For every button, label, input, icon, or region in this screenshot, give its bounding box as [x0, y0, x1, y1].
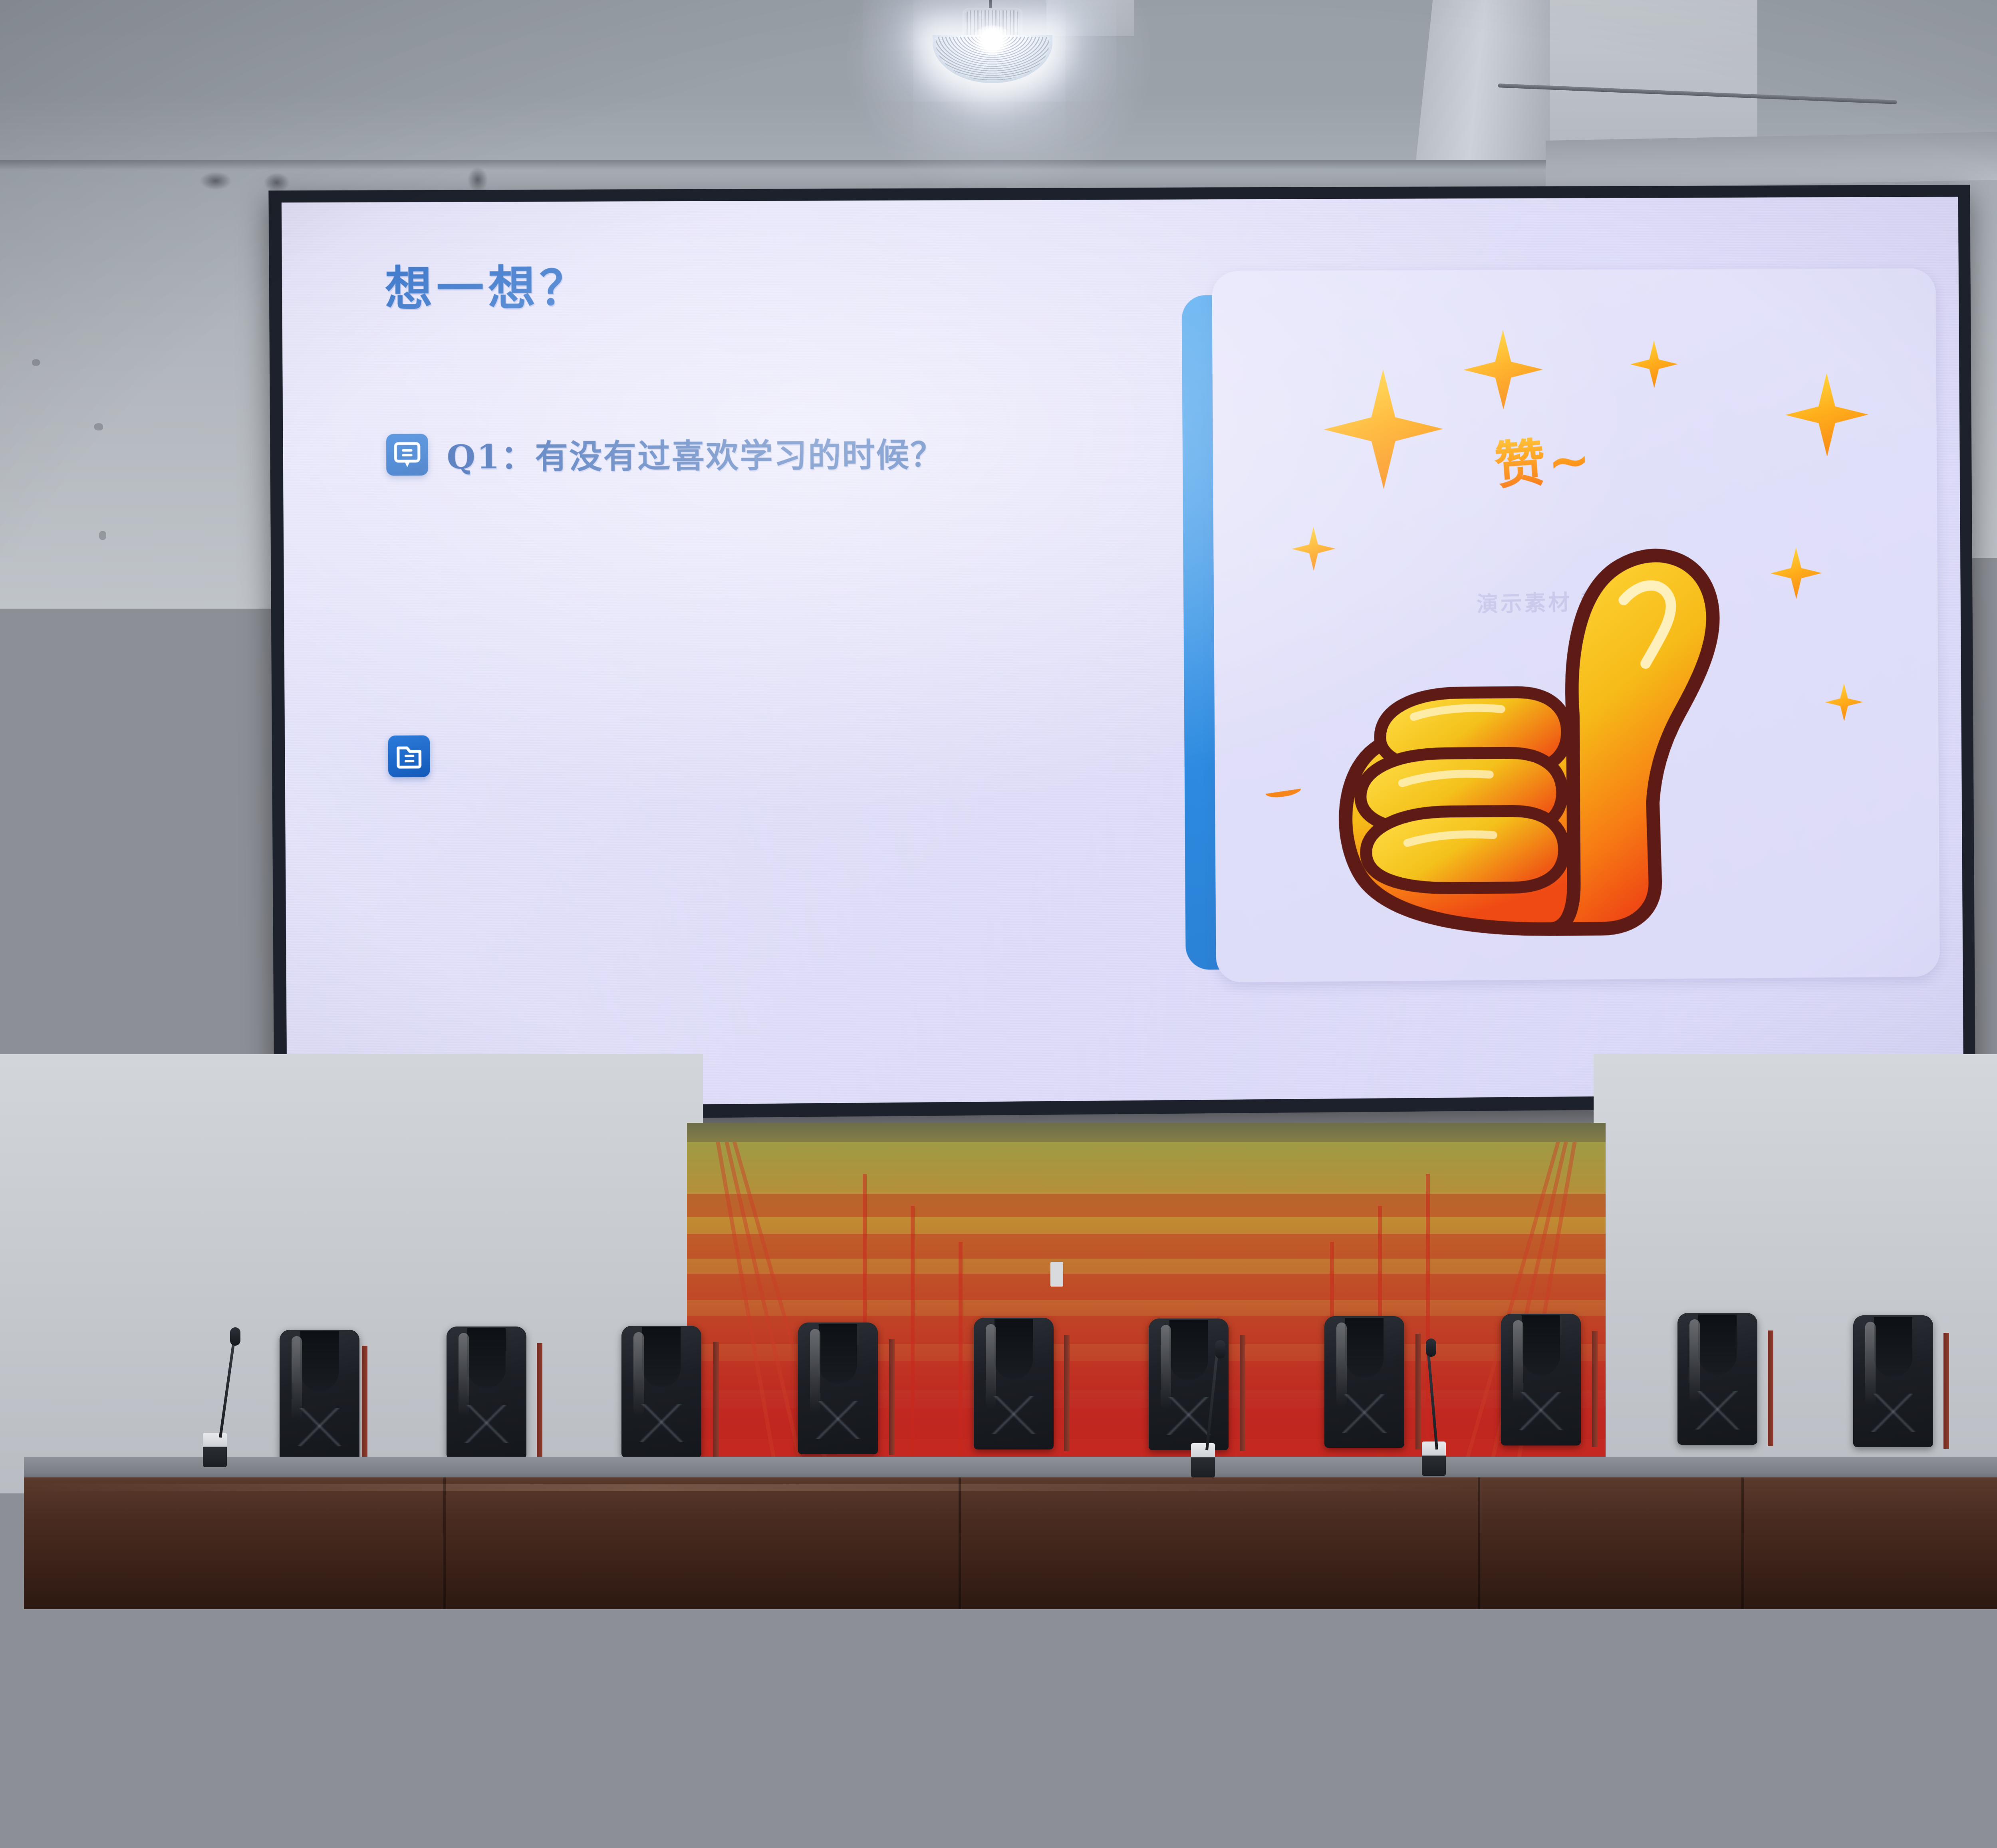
chair-leg [362, 1346, 367, 1461]
wall-patch [72, 1022, 120, 1040]
chair-leg [1768, 1330, 1773, 1446]
stage-chair [1853, 1315, 1933, 1447]
document-folder-icon [388, 735, 430, 777]
lamp-bulb [971, 26, 1013, 54]
slide-title: 想一想？ [385, 250, 591, 319]
microphone-head [230, 1327, 240, 1346]
audience-seat[interactable] [160, 1673, 276, 1749]
audience-head [663, 1605, 763, 1717]
auditorium-photo: 想一想？ Q1：有没有过喜欢学习的时候？ [0, 0, 1997, 1848]
stage-chair [280, 1330, 359, 1461]
stage-chair [621, 1326, 701, 1457]
microphone-head [1426, 1338, 1436, 1357]
slide-bullet-1: Q1：有没有过喜欢学习的时候？ [386, 428, 945, 478]
chair-leg [1415, 1334, 1421, 1449]
slide-bullet-1-text: Q1：有没有过喜欢学习的时候？ [447, 428, 944, 478]
thumbs-up-caption: 赞~ [1491, 418, 1595, 498]
wall-mark [467, 167, 488, 192]
stage-chair [447, 1327, 526, 1458]
audience-head [1514, 1589, 1616, 1707]
audience-head [931, 1605, 1030, 1717]
slide-surface: 想一想？ Q1：有没有过喜欢学习的时候？ [282, 197, 1963, 1108]
stage-chair [1677, 1313, 1757, 1445]
audience-head [1218, 1593, 1320, 1709]
wall-mark [94, 423, 103, 430]
speech-bubble-icon [386, 434, 429, 476]
thumbs-up-illustration [1293, 492, 1828, 953]
chair-leg [1240, 1335, 1245, 1451]
image-card: 演示素材 教学资源 仅供教学参考使用 赞~ [1212, 268, 1940, 982]
audience-head [1809, 1581, 1911, 1699]
wall-mark [32, 359, 40, 366]
audience-head [1362, 1577, 1468, 1697]
stage-chair [798, 1323, 878, 1454]
audience-head [791, 1589, 891, 1701]
wall-mark [264, 173, 290, 192]
stage-chair [1324, 1316, 1404, 1448]
wall-mark [99, 531, 106, 540]
backdrop-plate [1050, 1262, 1063, 1287]
audience-area [0, 1453, 1997, 1848]
audience-head [276, 1497, 367, 1605]
sparkle-icon [1630, 340, 1678, 388]
chair-leg [713, 1342, 719, 1457]
slide-bullet-2 [388, 735, 449, 777]
sparkle-icon [1323, 369, 1443, 489]
sparkle-icon [1785, 373, 1869, 457]
projection-screen[interactable]: 想一想？ Q1：有没有过喜欢学习的时候？ [268, 185, 1975, 1122]
pendant-light [911, 0, 1078, 128]
wall-mark [200, 172, 232, 190]
sparkle-icon [1463, 330, 1543, 410]
audience-head [415, 1489, 503, 1589]
stage-chair [1149, 1319, 1229, 1450]
stage-wall-right [1594, 1054, 1997, 1493]
microphone-head [1215, 1340, 1225, 1358]
audience-head [1662, 1585, 1763, 1703]
stage-chair [1501, 1314, 1581, 1445]
chair-leg [1064, 1335, 1070, 1451]
audience-head [447, 1621, 551, 1741]
chair-leg [889, 1339, 895, 1455]
audience-head [1074, 1585, 1178, 1701]
chair-leg [1943, 1333, 1949, 1449]
chair-leg [1592, 1331, 1598, 1447]
audience-head [535, 1493, 615, 1585]
audience-seat[interactable] [911, 1769, 1030, 1848]
chair-leg [537, 1343, 542, 1459]
sparkle-icon [1825, 683, 1863, 721]
stage-chair [974, 1318, 1054, 1449]
